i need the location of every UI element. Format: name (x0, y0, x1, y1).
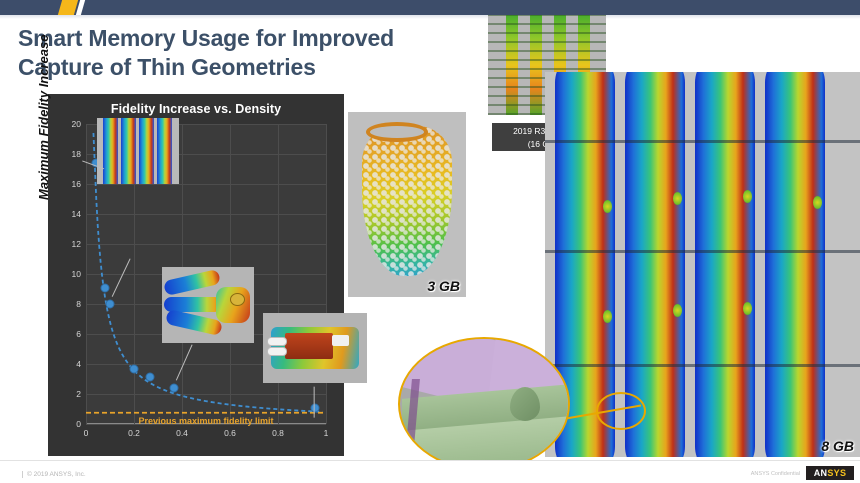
vase-lattice-pattern-offset (362, 126, 452, 276)
ansys-logo: ANSYS (806, 466, 854, 480)
chart-y-tick-label: 0 (76, 419, 81, 429)
slide-canvas: Smart Memory Usage for Improved Capture … (0, 0, 860, 483)
memory-label-small: 3 GB (427, 278, 460, 294)
chart-x-tick-label: 0.6 (224, 428, 236, 438)
chart-data-point (101, 283, 110, 292)
chart-y-tick-label: 14 (72, 209, 81, 219)
chart-y-tick-label: 8 (76, 299, 81, 309)
panel-fastener (743, 190, 752, 203)
logo-text-sys: SYS (827, 468, 846, 478)
panel-rib (545, 140, 860, 143)
chart-data-point (169, 384, 178, 393)
chart-y-tick-label: 16 (72, 179, 81, 189)
chart-callout-leader-line (313, 387, 314, 418)
chart-y-tick-label: 4 (76, 359, 81, 369)
chart-x-tick-label: 0.8 (272, 428, 284, 438)
vase-rim (366, 122, 428, 142)
panel-fastener (603, 200, 612, 213)
image-large-curved-panel-fea: 8 GB (545, 72, 860, 457)
panel-fastener (813, 196, 822, 209)
chart-y-tick-label: 10 (72, 269, 81, 279)
panel-rib (545, 364, 860, 367)
banner-shadow (0, 15, 860, 19)
panel-fastener (673, 304, 682, 317)
chart-y-tick-label: 2 (76, 389, 81, 399)
pcb-chip (285, 333, 333, 359)
chart-y-tick-label: 18 (72, 149, 81, 159)
memory-label-large: 8 GB (821, 438, 854, 454)
clevis-prong (165, 309, 223, 336)
logo-text-an: AN (814, 468, 828, 478)
clevis-hole (230, 293, 245, 306)
chart-x-tick-label: 0.2 (128, 428, 140, 438)
chart-x-tick-label: 1 (324, 428, 329, 438)
fea-band (157, 118, 172, 184)
slide-footer: © 2019 ANSYS, Inc. ANSYS Confidential AN… (0, 460, 860, 483)
chart-y-tick-label: 20 (72, 119, 81, 129)
fea-band (139, 118, 154, 184)
chart-data-point (130, 364, 139, 373)
chart-title: Fidelity Increase vs. Density (48, 102, 344, 116)
chart-y-axis-label: Maximum Fidelity Increase (36, 35, 51, 200)
banner-accent-slash (58, 0, 78, 15)
thumbnail-curved-panel-fea (97, 118, 179, 184)
page-title: Smart Memory Usage for Improved Capture … (18, 24, 488, 83)
page-title-line-1: Smart Memory Usage for Improved (18, 25, 394, 51)
panel-fastener (603, 310, 612, 323)
chart-data-point (106, 300, 115, 309)
image-clevis-part-fea (162, 267, 254, 343)
pcb-connector (267, 347, 287, 356)
pcb-connector (267, 337, 287, 346)
magnifier-detail-callout (398, 337, 570, 471)
image-electronics-assembly-fea (263, 313, 367, 383)
panel-fastener (673, 192, 682, 205)
detail-boss-feature (510, 387, 540, 421)
vase-body (362, 126, 452, 276)
chart-y-tick-label: 6 (76, 329, 81, 339)
chart-data-point (311, 404, 320, 413)
chart-y-tick-label: 12 (72, 239, 81, 249)
chart-x-tick-label: 0 (84, 428, 89, 438)
clevis-prong (163, 269, 221, 296)
chart-data-point (145, 372, 154, 381)
confidentiality-notice: ANSYS Confidential (751, 471, 800, 477)
fea-band (103, 118, 118, 184)
chart-x-tick-label: 0.4 (176, 428, 188, 438)
panel-fastener (743, 302, 752, 315)
panel-rib (545, 250, 860, 253)
top-banner (0, 0, 860, 15)
page-title-line-2: Capture of Thin Geometries (18, 53, 488, 82)
image-lattice-vase: 3 GB (348, 112, 466, 297)
copyright-text: © 2019 ANSYS, Inc. (22, 471, 86, 478)
pcb-component (332, 335, 349, 346)
fea-band (121, 118, 136, 184)
chart-reference-line-label: Previous maximum fidelity limit (86, 416, 326, 426)
fea-band-large (695, 72, 755, 457)
fea-band-large (765, 72, 825, 457)
